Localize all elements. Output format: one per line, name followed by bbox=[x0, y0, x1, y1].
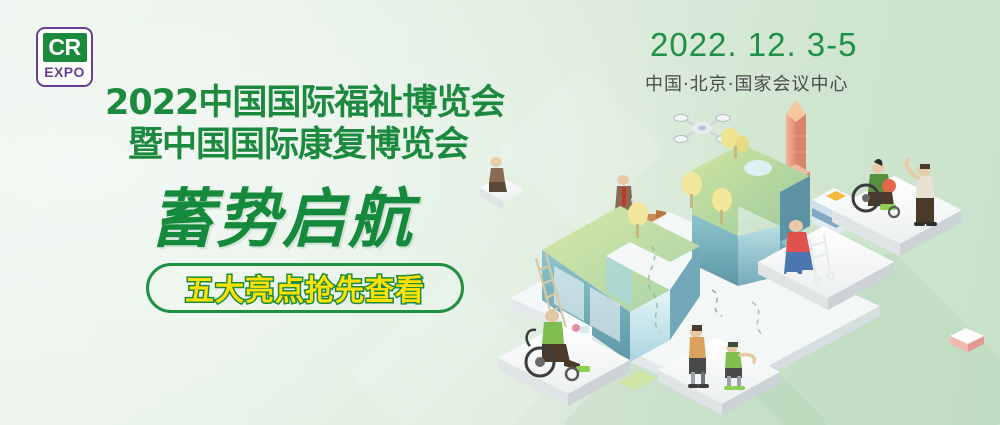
logo-expo-text: EXPO bbox=[44, 64, 85, 81]
highlights-cta-button[interactable]: 五大亮点抢先查看 bbox=[146, 263, 464, 313]
seated-person-left bbox=[480, 157, 524, 210]
wheelchair-basketball-player bbox=[853, 159, 899, 217]
slogan-text: 蓄势启航 bbox=[150, 168, 414, 260]
isometric-illustration bbox=[480, 40, 1000, 425]
cr-expo-logo[interactable]: CR EXPO bbox=[36, 27, 93, 87]
stacked-boxes-small bbox=[950, 328, 984, 352]
logo-cr-mark: CR bbox=[43, 33, 87, 62]
headline-line-2: 暨中国国际康复博览会 bbox=[128, 116, 468, 167]
highlights-cta-label: 五大亮点抢先查看 bbox=[185, 267, 425, 309]
promo-banner: CR EXPO 2022中国国际福祉博览会 暨中国国际康复博览会 蓄势启航 五大… bbox=[0, 0, 1000, 425]
